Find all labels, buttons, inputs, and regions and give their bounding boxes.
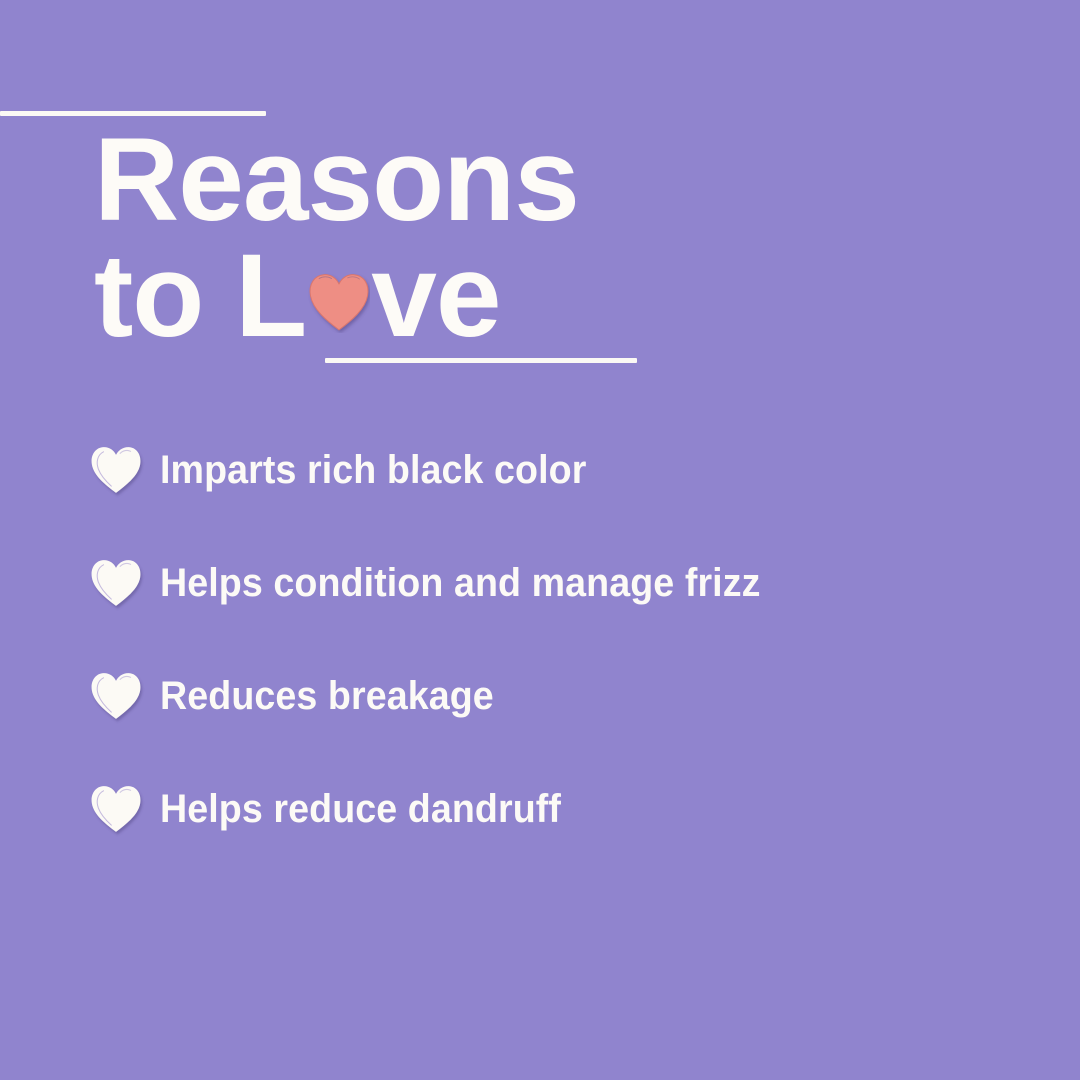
title-line-2-prefix: to L [94,238,306,354]
list-item: Helps reduce dandruff [90,779,990,839]
title-line-2-suffix: ve [371,238,500,354]
benefits-list: Imparts rich black color Helps condition… [90,440,990,839]
list-item-label: Imparts rich black color [160,448,586,492]
list-item-label: Helps condition and manage frizz [160,561,760,605]
heart-icon [90,671,142,721]
list-item: Imparts rich black color [90,440,990,500]
title-line-1: Reasons [94,122,854,238]
pink-heart-icon [308,271,370,333]
list-item-label: Helps reduce dandruff [160,787,561,831]
title-line-2: to L ve [94,238,854,354]
list-item: Reduces breakage [90,666,990,726]
heart-icon [90,558,142,608]
heart-icon [90,445,142,495]
list-item-label: Reduces breakage [160,674,494,718]
list-item: Helps condition and manage frizz [90,553,990,613]
heart-icon [90,784,142,834]
page-title: Reasons to L ve [94,122,854,354]
promo-card: Reasons to L ve [0,0,1080,1080]
